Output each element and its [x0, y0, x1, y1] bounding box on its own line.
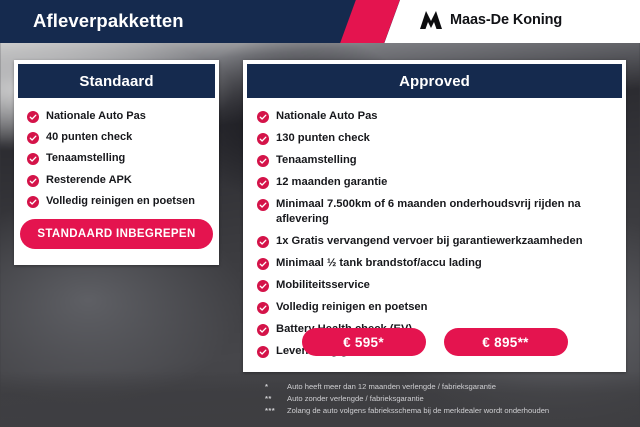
feature-label: Minimaal 7.500km of 6 maanden onderhouds… — [276, 197, 614, 228]
feature-label: Volledig reinigen en poetsen — [276, 300, 427, 315]
feature-label: Tenaamstelling — [276, 153, 357, 168]
list-item: 12 maanden garantie — [257, 175, 614, 190]
feature-list-approved: Nationale Auto Pas 130 punten check Tena… — [243, 98, 626, 359]
feature-label: 40 punten check — [46, 130, 132, 145]
maas-de-koning-m-logo-icon — [419, 10, 442, 30]
list-item: Volledig reinigen en poetsen — [27, 194, 219, 209]
check-circle-icon — [257, 280, 269, 292]
footnotes: * Auto heeft meer dan 12 maanden verleng… — [265, 381, 635, 417]
feature-label: Minimaal ½ tank brandstof/accu lading — [276, 256, 482, 271]
check-circle-icon — [257, 258, 269, 270]
card-header-standaard: Standaard — [18, 64, 215, 98]
check-circle-icon — [27, 175, 39, 187]
feature-list-standaard: Nationale Auto Pas 40 punten check Tenaa… — [14, 98, 219, 209]
footnote-text: Auto zonder verlengde / fabrieksgarantie — [287, 393, 424, 405]
list-item: Volledig reinigen en poetsen — [257, 300, 614, 315]
page-header: Afleverpakketten Maas-De Koning — [0, 0, 640, 43]
feature-label: Nationale Auto Pas — [276, 109, 378, 124]
brand-name: Maas-De Koning — [450, 12, 562, 28]
footnote-single-asterisk: * Auto heeft meer dan 12 maanden verleng… — [265, 381, 635, 393]
price-button-595[interactable]: € 595* — [302, 328, 426, 356]
list-item: Minimaal ½ tank brandstof/accu lading — [257, 256, 614, 271]
footnote-triple-asterisk: *** Zolang de auto volgens fabrieksschem… — [265, 405, 635, 417]
check-circle-icon — [257, 302, 269, 314]
footnote-mark: ** — [265, 393, 287, 405]
feature-label: Nationale Auto Pas — [46, 109, 146, 124]
check-circle-icon — [257, 111, 269, 123]
standaard-inbegrepen-button[interactable]: STANDAARD INBEGREPEN — [20, 219, 212, 249]
check-circle-icon — [257, 199, 269, 211]
list-item: 130 punten check — [257, 131, 614, 146]
check-circle-icon — [27, 196, 39, 208]
list-item: Nationale Auto Pas — [27, 109, 219, 124]
list-item: Tenaamstelling — [257, 153, 614, 168]
card-title-standaard: Standaard — [79, 73, 153, 90]
check-circle-icon — [257, 155, 269, 167]
price-button-895[interactable]: € 895** — [444, 328, 568, 356]
list-item: 1x Gratis vervangend vervoer bij garanti… — [257, 234, 614, 249]
footnote-mark: * — [265, 381, 287, 393]
price-button-row: € 595* € 895** — [243, 328, 626, 356]
check-circle-icon — [27, 132, 39, 144]
package-card-standaard: Standaard Nationale Auto Pas 40 punten c… — [14, 60, 219, 265]
footnote-text: Auto heeft meer dan 12 maanden verlengde… — [287, 381, 496, 393]
list-item: Tenaamstelling — [27, 151, 219, 166]
feature-label: Volledig reinigen en poetsen — [46, 194, 195, 209]
footnote-mark: *** — [265, 405, 287, 417]
afleverpakketten-page: Afleverpakketten Maas-De Koning Standaar… — [0, 0, 640, 427]
feature-label: Resterende APK — [46, 173, 132, 188]
footnote-text: Zolang de auto volgens fabrieksschema bi… — [287, 405, 549, 417]
feature-label: 1x Gratis vervangend vervoer bij garanti… — [276, 234, 583, 249]
check-circle-icon — [257, 236, 269, 248]
list-item: Nationale Auto Pas — [257, 109, 614, 124]
feature-label: 130 punten check — [276, 131, 370, 146]
footnote-double-asterisk: ** Auto zonder verlengde / fabrieksgaran… — [265, 393, 635, 405]
list-item: Minimaal 7.500km of 6 maanden onderhouds… — [257, 197, 614, 228]
list-item: Mobiliteitsservice — [257, 278, 614, 293]
check-circle-icon — [257, 177, 269, 189]
page-title: Afleverpakketten — [33, 10, 184, 32]
standaard-button-row: STANDAARD INBEGREPEN — [14, 219, 219, 249]
list-item: 40 punten check — [27, 130, 219, 145]
feature-label: 12 maanden garantie — [276, 175, 387, 190]
package-card-approved: Approved Nationale Auto Pas 130 punten c… — [243, 60, 626, 372]
brand-logo: Maas-De Koning — [419, 10, 562, 30]
check-circle-icon — [257, 133, 269, 145]
card-title-approved: Approved — [399, 73, 470, 90]
check-circle-icon — [27, 111, 39, 123]
feature-label: Mobiliteitsservice — [276, 278, 370, 293]
list-item: Resterende APK — [27, 173, 219, 188]
check-circle-icon — [27, 153, 39, 165]
feature-label: Tenaamstelling — [46, 151, 125, 166]
card-header-approved: Approved — [247, 64, 622, 98]
